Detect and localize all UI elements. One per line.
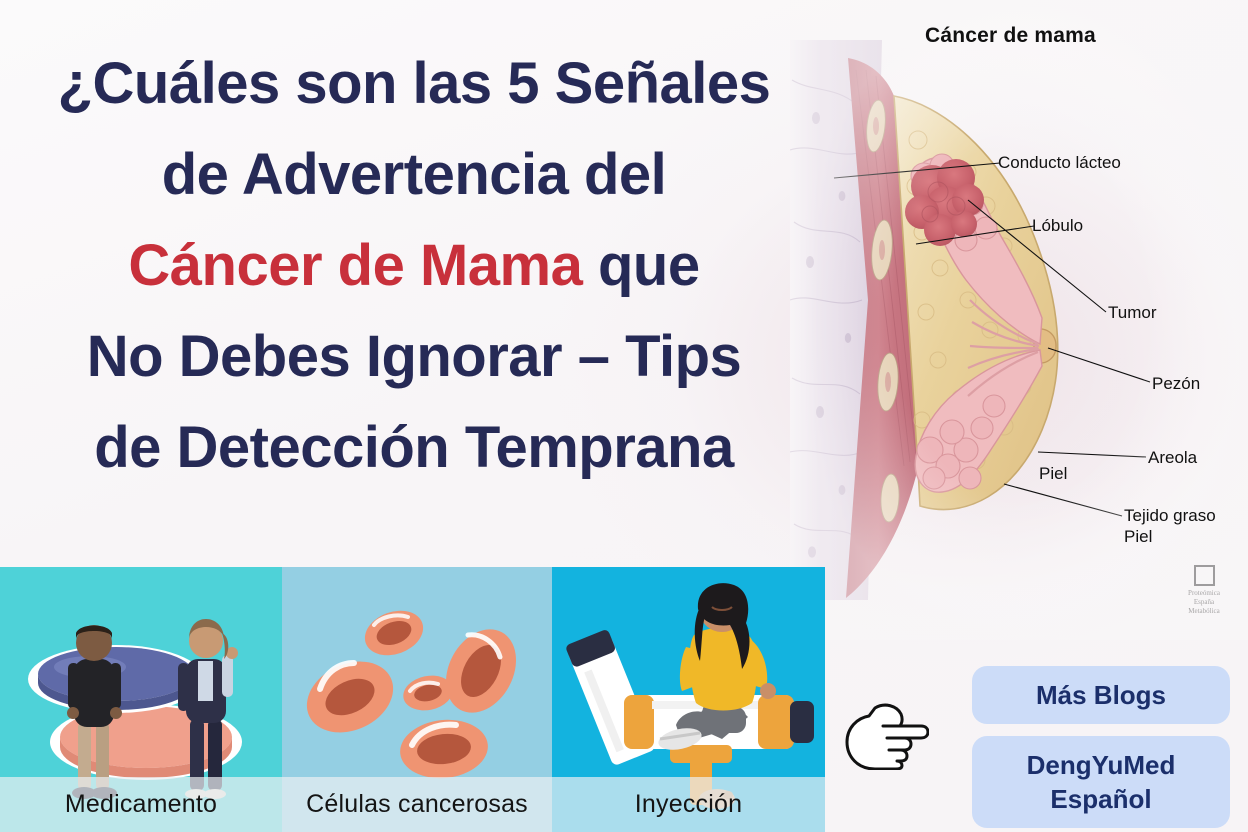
diagram-heading: Cáncer de mama (925, 24, 1096, 48)
panel-celulas-cancerosas[interactable]: Células cancerosas (282, 567, 552, 832)
label-tejido-graso: Tejido grasoPiel (1124, 505, 1216, 547)
dengyumed-espanol-button[interactable]: DengYuMedEspañol (972, 736, 1230, 828)
diagram-watermark: Proteómica España Metabólica (1171, 565, 1237, 616)
label-piel-secondary: Piel (1124, 527, 1152, 546)
dengyumed-line-1: DengYuMed (1027, 750, 1176, 780)
pointing-hand-icon (843, 700, 929, 770)
panel-caption-celulas: Células cancerosas (282, 777, 552, 832)
label-tejido-graso-text: Tejido graso (1124, 506, 1216, 525)
page-title: ¿Cuáles son las 5 Señales de Advertencia… (0, 38, 828, 493)
title-line-5: de Detección Temprana (0, 402, 828, 493)
watermark-line-1: Proteómica (1171, 589, 1237, 598)
title-line-3-tail: que (582, 233, 699, 298)
label-pezon: Pezón (1152, 373, 1200, 394)
label-piel: Piel (1039, 463, 1067, 484)
cta-button-group: Más Blogs DengYuMedEspañol (972, 666, 1230, 832)
dengyumed-line-2: Español (1050, 784, 1151, 814)
watermark-square-icon (1194, 565, 1215, 586)
title-line-3: Cáncer de Mama que (0, 220, 828, 311)
poster-root: ¿Cuáles son las 5 Señales de Advertencia… (0, 0, 1248, 832)
label-lobulo: Lóbulo (1032, 215, 1083, 236)
title-line-1: ¿Cuáles son las 5 Señales (0, 38, 828, 129)
title-highlight-cancer: Cáncer de Mama (128, 233, 582, 298)
label-tumor: Tumor (1108, 302, 1157, 323)
panel-caption-medicamento: Medicamento (0, 777, 282, 832)
panel-caption-inyeccion: Inyección (552, 777, 825, 832)
title-line-2: de Advertencia del (0, 129, 828, 220)
breast-anatomy-diagram: Cáncer de mama (790, 0, 1248, 640)
label-areola: Areola (1148, 447, 1197, 468)
panel-medicamento[interactable]: Medicamento (0, 567, 282, 832)
watermark-line-2: España (1171, 598, 1237, 607)
bottom-image-panels: Medicamento (0, 567, 825, 832)
mas-blogs-button[interactable]: Más Blogs (972, 666, 1230, 724)
panel-inyeccion[interactable]: Inyección (552, 567, 825, 832)
title-line-4: No Debes Ignorar – Tips (0, 311, 828, 402)
watermark-line-3: Metabólica (1171, 607, 1237, 616)
label-conducto-lacteo: Conducto lácteo (998, 152, 1121, 173)
